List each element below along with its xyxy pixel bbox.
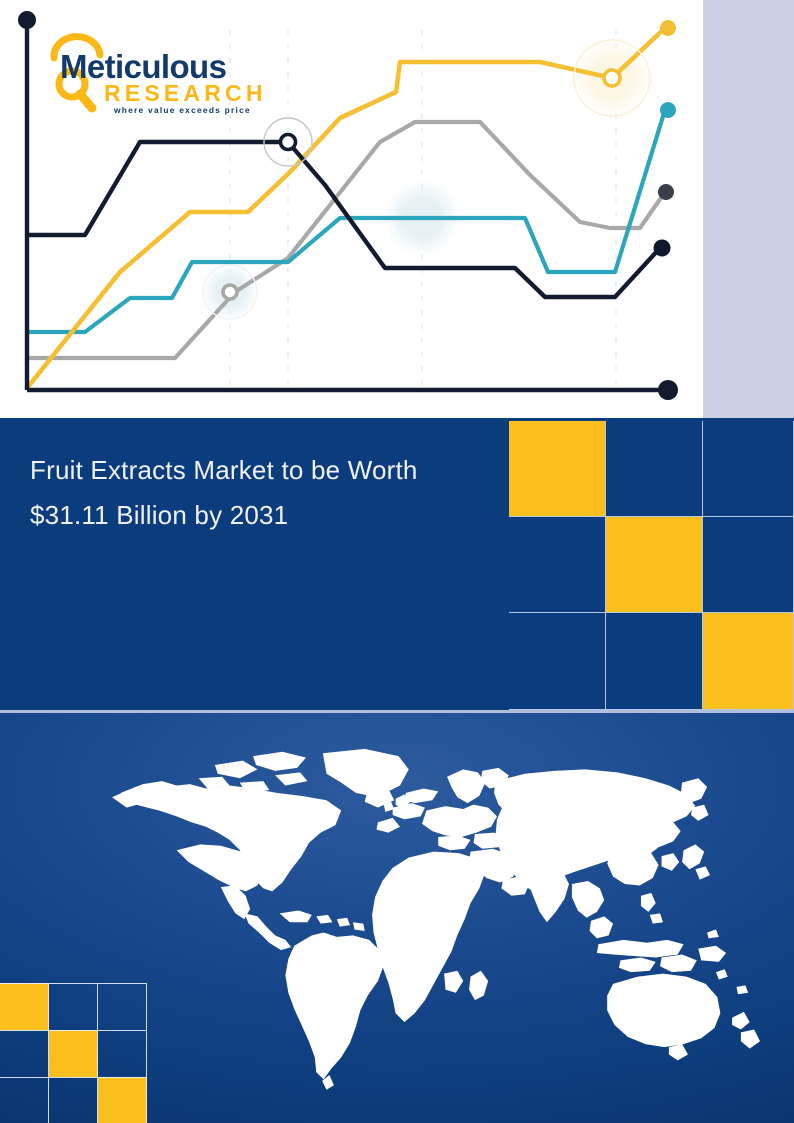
checker-cell	[509, 421, 606, 517]
checker-cell	[703, 613, 794, 710]
lavender-side-band	[703, 0, 794, 418]
stair-cell	[0, 983, 49, 1030]
chart-panel: Meticulous RESEARCH where value exceeds …	[0, 0, 794, 418]
marker-gray-ring	[223, 285, 237, 299]
checker-cell	[509, 517, 606, 613]
x-axis-right-dot	[658, 380, 678, 400]
stair-cell	[0, 1030, 49, 1077]
endpoint-teal-dot	[660, 102, 676, 118]
checker-cell	[606, 613, 703, 710]
meticulous-research-logo[interactable]: Meticulous RESEARCH where value exceeds …	[42, 28, 272, 116]
chart-line-gray	[27, 122, 665, 358]
marker-yellow-ring	[604, 70, 620, 86]
y-axis-top-dot	[18, 11, 36, 29]
marker-navy-ring	[281, 135, 296, 150]
stair-cell	[49, 1077, 98, 1123]
endpoint-yellow-dot	[660, 20, 676, 36]
stair-cell	[49, 983, 98, 1030]
stair-cell	[98, 1077, 147, 1123]
endpoint-navy-dot	[654, 240, 671, 257]
magnifier-handle-icon	[80, 94, 92, 108]
footer-stair-grid	[0, 983, 147, 1123]
checker-cell	[606, 517, 703, 613]
report-title: Fruit Extracts Market to be Worth $31.11…	[30, 448, 480, 537]
checker-cell	[606, 421, 703, 517]
logo-word-secondary: RESEARCH	[104, 80, 267, 106]
endpoint-gray-dot	[658, 184, 674, 200]
title-checker-grid	[509, 421, 794, 710]
report-cover-page: Meticulous RESEARCH where value exceeds …	[0, 0, 794, 1123]
stair-cell	[98, 1030, 147, 1077]
checker-cell	[703, 517, 794, 613]
stair-cell	[0, 1077, 49, 1123]
world-map-landmasses	[112, 749, 760, 1090]
logo-tagline: where value exceeds price	[113, 105, 251, 115]
stair-cell	[98, 983, 147, 1030]
stair-cell	[49, 1030, 98, 1077]
checker-cell	[703, 421, 794, 517]
checker-cell	[509, 613, 606, 710]
